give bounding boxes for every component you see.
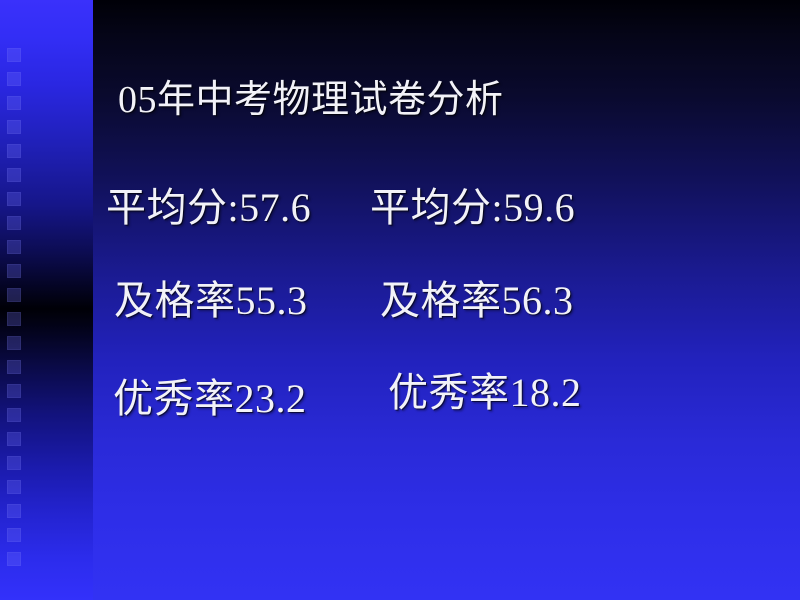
- stat-average-score-right: 平均分:59.6: [370, 183, 575, 233]
- stat-pass-rate-left: 及格率55.3: [114, 276, 308, 326]
- stat-excellent-rate-right: 优秀率18.2: [388, 368, 582, 418]
- page-title: 05年中考物理试卷分析: [118, 76, 504, 124]
- presentation-slide: 05年中考物理试卷分析 平均分:57.6 平均分:59.6 及格率55.3 及格…: [0, 0, 800, 600]
- slide-content: 05年中考物理试卷分析 平均分:57.6 平均分:59.6 及格率55.3 及格…: [0, 0, 800, 600]
- stat-excellent-rate-left: 优秀率23.2: [113, 374, 307, 424]
- stat-pass-rate-right: 及格率56.3: [380, 276, 574, 326]
- stat-average-score-left: 平均分:57.6: [106, 183, 311, 233]
